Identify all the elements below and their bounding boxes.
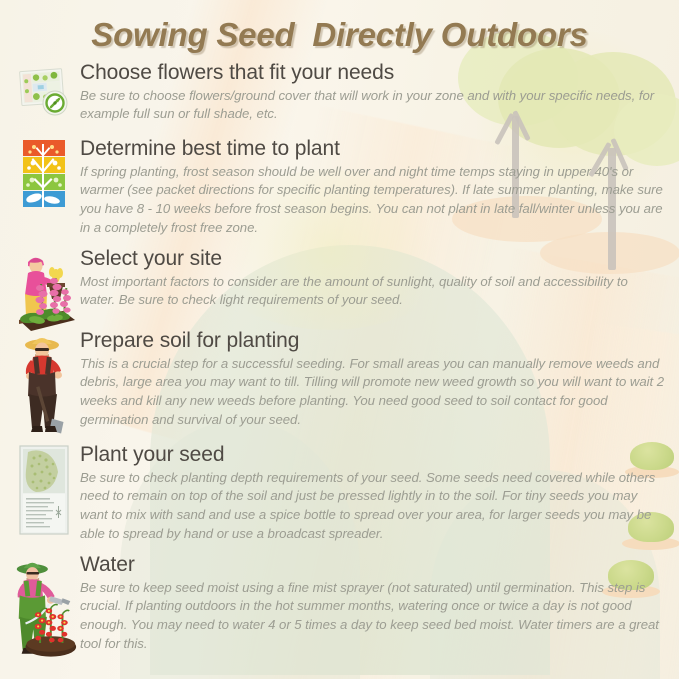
step-icon-container: [8, 138, 80, 212]
step-body: Be sure to check planting depth requirem…: [80, 469, 665, 544]
gardener-with-flower-bed-icon: [11, 248, 77, 334]
step-item-plant-seed: Plant your seed Be sure to check plantin…: [8, 444, 671, 544]
garden-plan-compass-icon: [15, 62, 73, 120]
step-heading: Water: [80, 554, 665, 577]
step-icon-container: [8, 330, 80, 436]
step-item-prepare-soil: Prepare soil for planting This is a cruc…: [8, 330, 671, 436]
steps-list: Choose flowers that fit your needs Be su…: [0, 0, 679, 679]
step-body: Be sure to choose flowers/ground cover t…: [80, 87, 665, 124]
step-heading: Select your site: [80, 248, 665, 271]
infographic-poster: Sowing Seed Directly Outdoors: [0, 0, 679, 679]
step-icon-container: [8, 444, 80, 536]
step-body: If spring planting, frost season should …: [80, 163, 665, 238]
step-text-container: Plant your seed Be sure to check plantin…: [80, 444, 671, 544]
step-heading: Prepare soil for planting: [80, 330, 665, 353]
step-item-water: Water Be sure to keep seed moist using a…: [8, 554, 671, 660]
step-body: Most important factors to consider are t…: [80, 273, 665, 310]
step-body: Be sure to keep seed moist using a fine …: [80, 579, 665, 654]
step-text-container: Determine best time to plant If spring p…: [80, 138, 671, 238]
seed-packet-icon: [16, 444, 72, 536]
step-text-container: Choose flowers that fit your needs Be su…: [80, 62, 671, 124]
step-text-container: Water Be sure to keep seed moist using a…: [80, 554, 671, 654]
gardener-with-shovel-icon: [15, 330, 73, 436]
step-text-container: Prepare soil for planting This is a cruc…: [80, 330, 671, 430]
step-heading: Determine best time to plant: [80, 138, 665, 161]
four-seasons-tree-icon: [19, 138, 69, 212]
step-icon-container: [8, 62, 80, 120]
step-icon-container: [8, 554, 80, 660]
step-text-container: Select your site Most important factors …: [80, 248, 671, 310]
step-icon-container: [8, 248, 80, 334]
step-item-determine-time: Determine best time to plant If spring p…: [8, 138, 671, 238]
step-item-choose-flowers: Choose flowers that fit your needs Be su…: [8, 62, 671, 124]
gardener-watering-icon: [8, 554, 80, 660]
step-body: This is a crucial step for a successful …: [80, 355, 665, 430]
step-heading: Plant your seed: [80, 444, 665, 467]
step-item-select-site: Select your site Most important factors …: [8, 248, 671, 334]
step-heading: Choose flowers that fit your needs: [80, 62, 665, 85]
